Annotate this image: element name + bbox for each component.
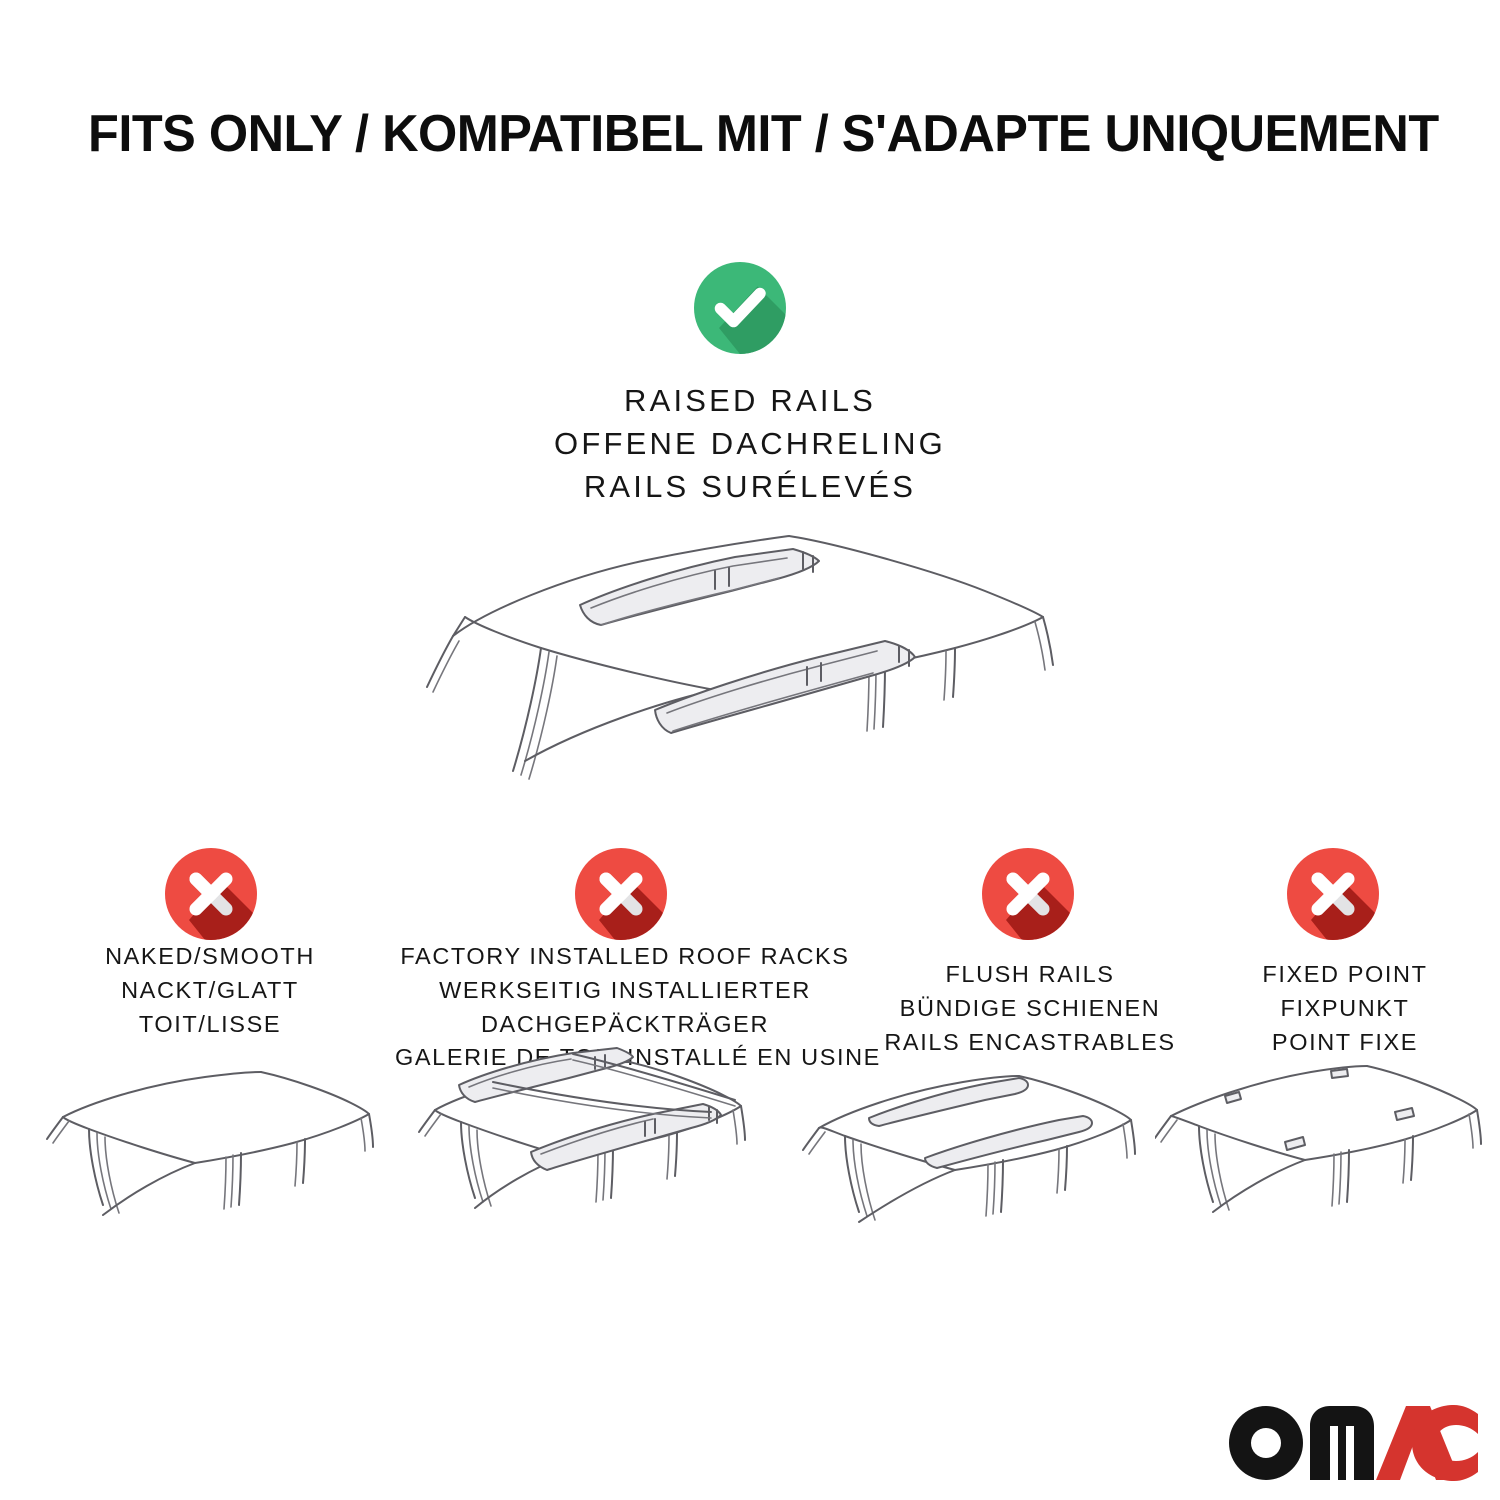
incompatible-caption-fixed-point: FIXED POINT FIXPUNKT POINT FIXE — [1195, 958, 1495, 1059]
red-x-circle-icon-factory — [575, 848, 667, 940]
caption-line-en: RAISED RAILS — [450, 380, 1050, 423]
omac-brand-logo — [1228, 1404, 1478, 1482]
caption-line-en: FLUSH RAILS — [865, 958, 1195, 992]
car-roof-flush-rails-illustration — [795, 1050, 1175, 1290]
caption-line-de: NACKT/GLATT — [35, 974, 385, 1008]
caption-line-en: FIXED POINT — [1195, 958, 1495, 992]
caption-line-en: NAKED/SMOOTH — [35, 940, 385, 974]
red-x-circle-icon-naked — [165, 848, 257, 940]
incompatible-caption-naked-smooth: NAKED/SMOOTH NACKT/GLATT TOIT/LISSE — [35, 940, 385, 1041]
caption-line-de-2: DACHGEPÄCKTRÄGER — [395, 1008, 855, 1042]
car-roof-fixed-point-illustration — [1155, 1050, 1495, 1290]
green-check-circle-icon — [694, 262, 786, 354]
car-roof-factory-racks-illustration — [405, 1040, 785, 1290]
car-roof-naked-smooth-illustration — [45, 1055, 395, 1285]
caption-line-de: FIXPUNKT — [1195, 992, 1495, 1026]
caption-line-de: OFFENE DACHRELING — [450, 423, 1050, 466]
red-x-circle-icon-flush — [982, 848, 1074, 940]
caption-line-de: BÜNDIGE SCHIENEN — [865, 992, 1195, 1026]
caption-line-de-1: WERKSEITIG INSTALLIERTER — [395, 974, 855, 1008]
caption-line-fr: TOIT/LISSE — [35, 1008, 385, 1042]
compatible-caption: RAISED RAILS OFFENE DACHRELING RAILS SUR… — [450, 380, 1050, 508]
red-x-circle-icon-fixed — [1287, 848, 1379, 940]
caption-line-fr: RAILS SURÉLEVÉS — [450, 466, 1050, 509]
car-roof-raised-rails-illustration — [415, 505, 1085, 815]
caption-line-en: FACTORY INSTALLED ROOF RACKS — [395, 940, 855, 974]
page-title: FITS ONLY / KOMPATIBEL MIT / S'ADAPTE UN… — [88, 108, 1388, 160]
incompatible-caption-flush-rails: FLUSH RAILS BÜNDIGE SCHIENEN RAILS ENCAS… — [865, 958, 1195, 1059]
